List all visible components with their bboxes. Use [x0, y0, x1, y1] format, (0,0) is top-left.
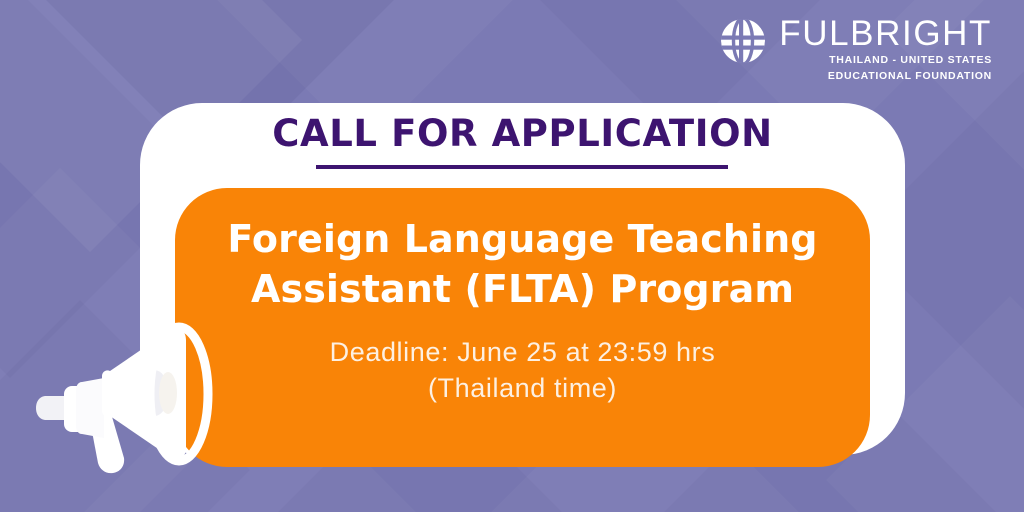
megaphone-icon [28, 308, 213, 478]
fulbright-logo: FULBRIGHT THAILAND - UNITED STATES EDUCA… [718, 14, 992, 83]
heading-underline [316, 165, 728, 169]
program-panel: Foreign Language Teaching Assistant (FLT… [175, 188, 870, 467]
fulbright-subtitle-line1: THAILAND - UNITED STATES [779, 54, 992, 68]
fulbright-wordmark: FULBRIGHT [779, 16, 992, 52]
deadline-text: Deadline: June 25 at 23:59 hrs (Thailand… [300, 334, 746, 406]
fulbright-subtitle-line2: EDUCATIONAL FOUNDATION [779, 70, 992, 84]
program-title: Foreign Language Teaching Assistant (FLT… [193, 214, 851, 314]
fulbright-globe-icon [718, 16, 768, 66]
page-title: CALL FOR APPLICATION [272, 112, 772, 156]
call-for-application-heading-wrap: CALL FOR APPLICATION [140, 112, 905, 156]
promo-poster: FULBRIGHT THAILAND - UNITED STATES EDUCA… [0, 0, 1024, 512]
fulbright-logo-text: FULBRIGHT THAILAND - UNITED STATES EDUCA… [779, 14, 992, 83]
